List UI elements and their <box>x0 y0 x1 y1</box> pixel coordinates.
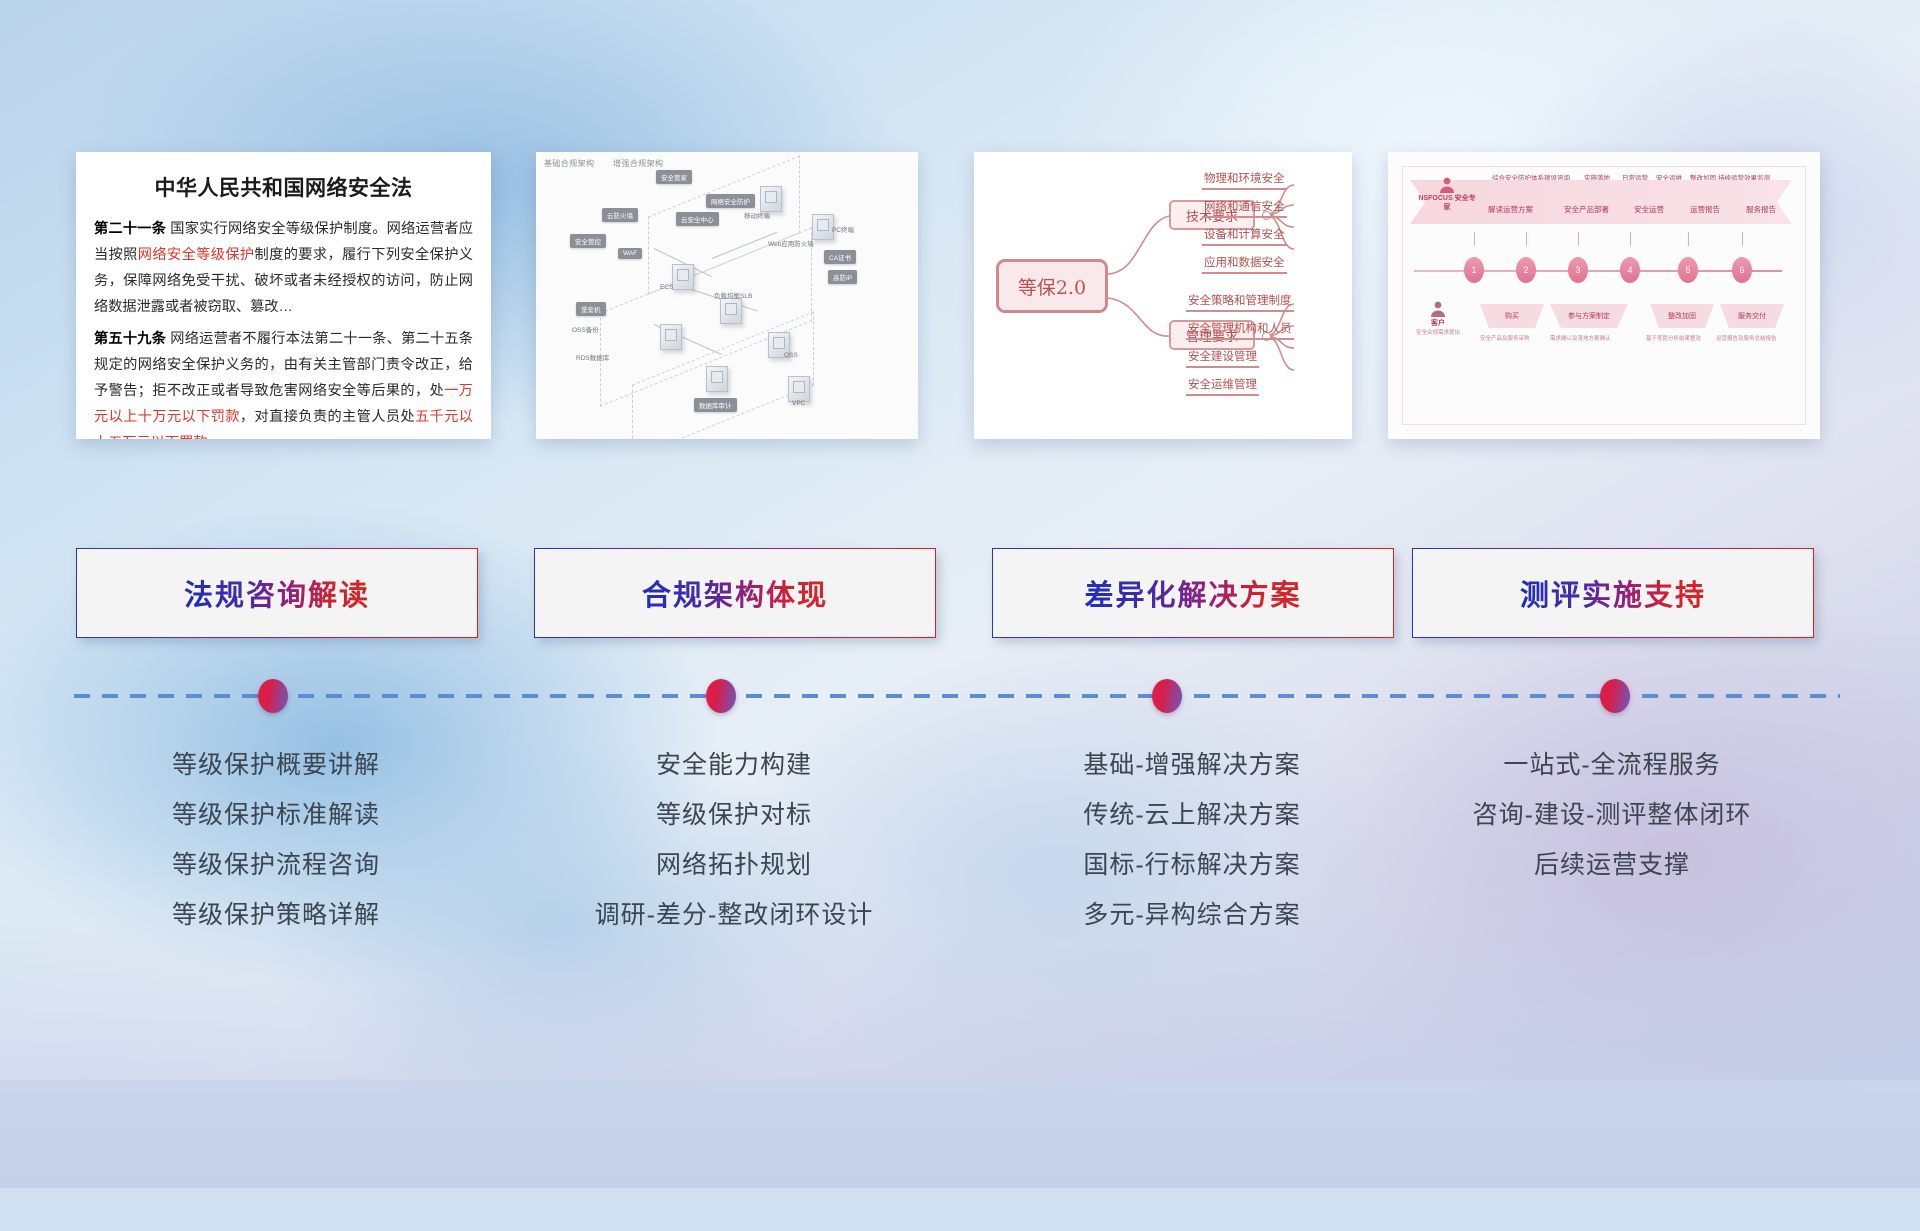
service-timeline-card: 综合安全防护体系建设咨询 实施落地 日常运营 安全运维 整改加固 持续运营效果监… <box>1388 152 1820 439</box>
architecture-tag-0: 安全管家 <box>656 170 692 184</box>
timeline-dashed-line <box>74 694 1840 698</box>
law-article-21-highlight: 网络安全等级保护 <box>138 247 255 263</box>
list-item: 咨询-建设-测评整体闭环 <box>1412 790 1812 840</box>
list-item: 等级保护标准解读 <box>76 790 476 840</box>
architecture-label-slb: 负载均衡SLB <box>714 290 752 300</box>
law-article-59-label: 第五十九条 <box>94 331 166 347</box>
architecture-label-mobile: 移动终端 <box>744 210 770 220</box>
list-item: 安全能力构建 <box>534 740 934 790</box>
nsfocus-step-1: 1 <box>1464 257 1484 283</box>
architecture-tag-8: 堡垒机 <box>576 302 606 316</box>
nsfocus-bottom-chip-0: 购买 <box>1480 304 1544 328</box>
architecture-tag-6: CA证书 <box>824 250 856 264</box>
list-item: 网络拓扑规划 <box>534 840 934 890</box>
law-card-title: 中华人民共和国网络安全法 <box>94 172 473 202</box>
list-item: 国标-行标解决方案 <box>992 840 1392 890</box>
architecture-tag-3: 云安全中心 <box>676 212 719 226</box>
law-article-21: 第二十一条 国家实行网络安全等级保护制度。网络运营者应当按照网络安全等级保护制度… <box>94 216 473 320</box>
nsfocus-expert-badge: NSFOCUS 安全专家 <box>1418 176 1476 232</box>
detail-list-row: 等级保护概要讲解 等级保护标准解读 等级保护流程咨询 等级保护策略详解 安全能力… <box>0 740 1920 1040</box>
nsfocus-bottom-sub-3: 运营报告及服务总结报告 <box>1716 334 1777 342</box>
section-title-label-2: 合规架构体现 <box>642 572 828 614</box>
nsfocus-poster: 综合安全防护体系建设咨询 实施落地 日常运营 安全运维 整改加固 持续运营效果监… <box>1388 152 1820 439</box>
nsfocus-customer-sub: 安全合规需求提出 <box>1416 328 1460 336</box>
nsfocus-tick-4 <box>1630 232 1631 246</box>
nsfocus-bottom-sub-1: 需求确认及落地方案确认 <box>1550 334 1611 342</box>
detail-list-items-2: 安全能力构建 等级保护对标 网络拓扑规划 调研-差分-整改闭环设计 <box>534 740 934 940</box>
section-title-box-3[interactable]: 差异化解决方案 <box>992 548 1394 638</box>
slide-stage: 中华人民共和国网络安全法 第二十一条 国家实行网络安全等级保护制度。网络运营者应… <box>0 0 1920 1080</box>
mindmap-card: 等保2.0 技术要求 物理和环境安全 网络和通信安全 设备和计算安全 应用和数据… <box>974 152 1352 439</box>
architecture-tag-2: 云防火墙 <box>602 208 638 222</box>
cloud-architecture-card: 基础合规架构 增强合规架构 <box>536 152 918 439</box>
section-title-box-4[interactable]: 测评实施支持 <box>1412 548 1814 638</box>
mindmap-root-node: 等保2.0 <box>996 259 1108 313</box>
illustration-card-row: 中华人民共和国网络安全法 第二十一条 国家实行网络安全等级保护制度。网络运营者应… <box>0 152 1920 442</box>
architecture-label-waf: Web应用防火墙 <box>768 238 814 248</box>
nsfocus-tick-2 <box>1526 232 1527 246</box>
law-article-59-text-c: 。 <box>208 435 222 439</box>
list-item: 一站式-全流程服务 <box>1412 740 1812 790</box>
nsfocus-step-2: 2 <box>1516 257 1536 283</box>
architecture-tag-5: WAF <box>618 248 642 259</box>
section-title-row: 法规咨询解读 合规架构体现 差异化解决方案 测评实施支持 <box>0 548 1920 640</box>
nsfocus-customer-badge: 客户 安全合规需求提出 <box>1416 300 1460 340</box>
architecture-label-ecs: ECS <box>660 284 673 291</box>
architecture-tag-15: 数据库审计 <box>694 398 737 412</box>
timeline-node-2[interactable] <box>706 679 736 713</box>
detail-list-2: 安全能力构建 等级保护对标 网络拓扑规划 调研-差分-整改闭环设计 <box>534 740 934 940</box>
nsfocus-tick-1 <box>1474 232 1475 246</box>
nsfocus-expert-label: NSFOCUS 安全专家 <box>1418 194 1476 212</box>
law-text-card: 中华人民共和国网络安全法 第二十一条 国家实行网络安全等级保护制度。网络运营者应… <box>76 152 491 439</box>
architecture-node-pc <box>812 214 834 240</box>
detail-list-4: 一站式-全流程服务 咨询-建设-测评整体闭环 后续运营支撑 <box>1412 740 1812 890</box>
list-item: 等级保护策略详解 <box>76 890 476 940</box>
architecture-node-ecs-a <box>672 264 694 290</box>
list-item: 基础-增强解决方案 <box>992 740 1392 790</box>
architecture-node-ecs-b <box>660 324 682 350</box>
nsfocus-tick-5 <box>1688 232 1689 246</box>
nsfocus-bottom-chip-3: 服务交付 <box>1720 304 1784 328</box>
mindmap-leaf-tech-0: 物理和环境安全 <box>1202 170 1287 190</box>
architecture-tag-4: 安全管控 <box>570 234 606 248</box>
mindmap-leaf-tech-3: 应用和数据安全 <box>1202 254 1287 274</box>
customer-person-icon <box>1427 300 1449 318</box>
nsfocus-step-4: 4 <box>1620 257 1640 283</box>
list-item: 等级保护概要讲解 <box>76 740 476 790</box>
architecture-tag-7: 高防IP <box>828 270 857 284</box>
detail-list-items-3: 基础-增强解决方案 传统-云上解决方案 国标-行标解决方案 多元-异构综合方案 <box>992 740 1392 940</box>
mindmap-leaf-tech-1: 网络和通信安全 <box>1202 198 1287 218</box>
architecture-header-right: 增强合规架构 <box>613 159 663 168</box>
nsfocus-bottom-sub-2: 基于差距分析结果整改 <box>1646 334 1701 342</box>
architecture-label-pc: PC终端 <box>832 224 854 234</box>
detail-list-items-4: 一站式-全流程服务 咨询-建设-测评整体闭环 后续运营支撑 <box>1412 740 1812 890</box>
architecture-label-oss: OSS <box>784 352 798 359</box>
nsfocus-ribbon-chip-2: 安全产品部署 <box>1564 204 1609 215</box>
section-title-label-4: 测评实施支持 <box>1520 572 1706 614</box>
list-item: 后续运营支撑 <box>1412 840 1812 890</box>
architecture-node-mobile <box>760 186 782 212</box>
nsfocus-customer-label: 客户 <box>1416 318 1460 328</box>
list-item: 传统-云上解决方案 <box>992 790 1392 840</box>
law-card-body: 中华人民共和国网络安全法 第二十一条 国家实行网络安全等级保护制度。网络运营者应… <box>76 152 491 439</box>
section-title-label-1: 法规咨询解读 <box>184 572 370 614</box>
nsfocus-step-5: 5 <box>1678 257 1698 283</box>
nsfocus-bottom-chip-2: 整改加固 <box>1650 304 1714 328</box>
architecture-node-slb <box>720 298 742 324</box>
section-title-label-3: 差异化解决方案 <box>1084 572 1301 614</box>
mindmap-leaf-tech-2: 设备和计算安全 <box>1202 226 1287 246</box>
list-item: 多元-异构综合方案 <box>992 890 1392 940</box>
mindmap-diagram: 等保2.0 技术要求 物理和环境安全 网络和通信安全 设备和计算安全 应用和数据… <box>974 152 1352 439</box>
list-item: 等级保护对标 <box>534 790 934 840</box>
architecture-header-left: 基础合规架构 <box>544 159 594 168</box>
mindmap-leaf-mgmt-1: 安全管理机构和人员 <box>1186 320 1294 340</box>
section-title-box-1[interactable]: 法规咨询解读 <box>76 548 478 638</box>
detail-list-1: 等级保护概要讲解 等级保护标准解读 等级保护流程咨询 等级保护策略详解 <box>76 740 476 940</box>
architecture-label-vpc: VPC <box>792 400 805 407</box>
nsfocus-bottom-sub-0: 安全产品及服务采购 <box>1480 334 1530 342</box>
mindmap-leaf-mgmt-0: 安全策略和管理制度 <box>1186 292 1294 312</box>
nsfocus-ribbon-chip-3: 安全运营 <box>1634 204 1664 215</box>
timeline-node-4[interactable] <box>1600 679 1630 713</box>
detail-list-3: 基础-增强解决方案 传统-云上解决方案 国标-行标解决方案 多元-异构综合方案 <box>992 740 1392 940</box>
nsfocus-bottom-chip-1: 参与方案制定 <box>1550 304 1628 328</box>
section-title-box-2[interactable]: 合规架构体现 <box>534 548 936 638</box>
expert-person-icon <box>1436 176 1458 194</box>
architecture-node-rds <box>706 366 728 392</box>
law-article-59: 第五十九条 网络运营者不履行本法第二十一条、第二十五条规定的网络安全保护义务的，… <box>94 326 473 439</box>
architecture-tag-1: 网络安全防护 <box>706 194 755 208</box>
nsfocus-tick-6 <box>1742 232 1743 246</box>
mindmap-leaf-mgmt-3: 安全运维管理 <box>1186 376 1259 396</box>
nsfocus-tick-3 <box>1578 232 1579 246</box>
architecture-label-oss-backup: OSS备份 <box>572 324 599 334</box>
law-article-21-label: 第二十一条 <box>94 221 166 237</box>
architecture-label-rds: RDS数据库 <box>576 352 609 362</box>
nsfocus-ribbon-chip-4: 运营报告 <box>1690 204 1720 215</box>
nsfocus-ribbon-chip-1: 解读运营方案 <box>1488 204 1533 215</box>
timeline-node-1[interactable] <box>258 679 288 713</box>
architecture-header: 基础合规架构 增强合规架构 <box>544 158 679 169</box>
nsfocus-step-3: 3 <box>1568 257 1588 283</box>
nsfocus-step-6: 6 <box>1732 257 1752 283</box>
nsfocus-ribbon-chip-5: 服务报告 <box>1746 204 1776 215</box>
architecture-node-vpc <box>788 376 810 402</box>
mindmap-leaf-mgmt-2: 安全建设管理 <box>1186 348 1259 368</box>
list-item: 等级保护流程咨询 <box>76 840 476 890</box>
timeline-node-3[interactable] <box>1152 679 1182 713</box>
architecture-diagram: 基础合规架构 增强合规架构 <box>536 152 918 439</box>
law-article-59-text-b: ，对直接负责的主管人员处 <box>240 409 415 425</box>
detail-list-items-1: 等级保护概要讲解 等级保护标准解读 等级保护流程咨询 等级保护策略详解 <box>76 740 476 940</box>
list-item: 调研-差分-整改闭环设计 <box>534 890 934 940</box>
